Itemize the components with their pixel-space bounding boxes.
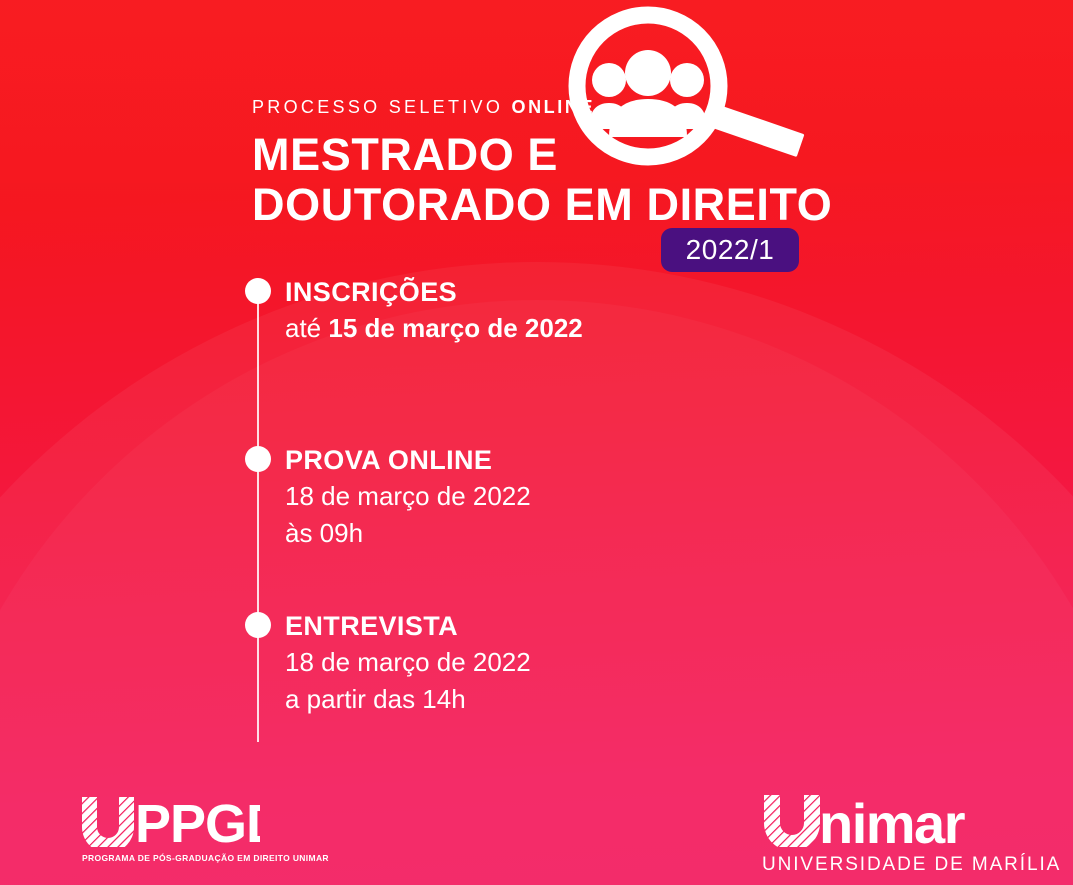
- background-arc-outer: [0, 262, 1073, 885]
- unimar-wordmark-graphic: nimar: [762, 793, 994, 847]
- unimar-logo: nimar UNIVERSIDADE DE MARÍLIA: [762, 793, 1061, 876]
- timeline-item-detail: até 15 de março de 2022: [285, 312, 865, 345]
- headline-line-2: DOUTORADO EM DIREITO: [252, 180, 832, 230]
- kicker-light-part: PROCESSO SELETIVO: [252, 97, 511, 117]
- timeline-item-title: ENTREVISTA: [285, 612, 865, 642]
- headline-line-1: MESTRADO E: [252, 130, 832, 180]
- headline-block: MESTRADO E DOUTORADO EM DIREITO: [252, 130, 832, 231]
- svg-text:PPGD: PPGD: [135, 795, 260, 847]
- timeline-item-entrevista: ENTREVISTA 18 de março de 2022 a partir …: [245, 612, 865, 716]
- kicker-text: PROCESSO SELETIVO ONLINE: [252, 98, 832, 116]
- unimar-tagline: UNIVERSIDADE DE MARÍLIA: [762, 854, 1061, 876]
- timeline-dot: [245, 278, 271, 304]
- timeline-item-detail-2: às 09h: [285, 517, 865, 550]
- svg-text:nimar: nimar: [819, 793, 965, 847]
- header-block: PROCESSO SELETIVO ONLINE MESTRADO E DOUT…: [252, 98, 832, 231]
- timeline-item-detail: 18 de março de 2022: [285, 646, 865, 679]
- timeline-item-title: INSCRIÇÕES: [285, 278, 865, 308]
- timeline-item-inscricoes: INSCRIÇÕES até 15 de março de 2022: [245, 278, 865, 345]
- uppgd-tagline: PROGRAMA DE PÓS-GRADUAÇÃO EM DIREITO UNI…: [82, 853, 329, 863]
- timeline-item-detail-2: a partir das 14h: [285, 683, 865, 716]
- poster-canvas: PROCESSO SELETIVO ONLINE MESTRADO E DOUT…: [0, 0, 1073, 885]
- term-badge-label: 2022/1: [686, 234, 775, 266]
- uppgd-wordmark-graphic: PPGD: [80, 795, 260, 847]
- uppgd-logo: PPGD PROGRAMA DE PÓS-GRADUAÇÃO EM DIREIT…: [80, 795, 329, 863]
- timeline-dot: [245, 446, 271, 472]
- timeline-item-detail: 18 de março de 2022: [285, 480, 865, 513]
- timeline-item-title: PROVA ONLINE: [285, 446, 865, 476]
- timeline-detail-bold: 15 de março de 2022: [328, 313, 582, 343]
- timeline-dot: [245, 612, 271, 638]
- kicker-bold-part: ONLINE: [511, 97, 595, 117]
- timeline-detail-prefix: até: [285, 313, 328, 343]
- timeline-item-prova-online: PROVA ONLINE 18 de março de 2022 às 09h: [245, 446, 865, 550]
- term-badge: 2022/1: [661, 228, 799, 272]
